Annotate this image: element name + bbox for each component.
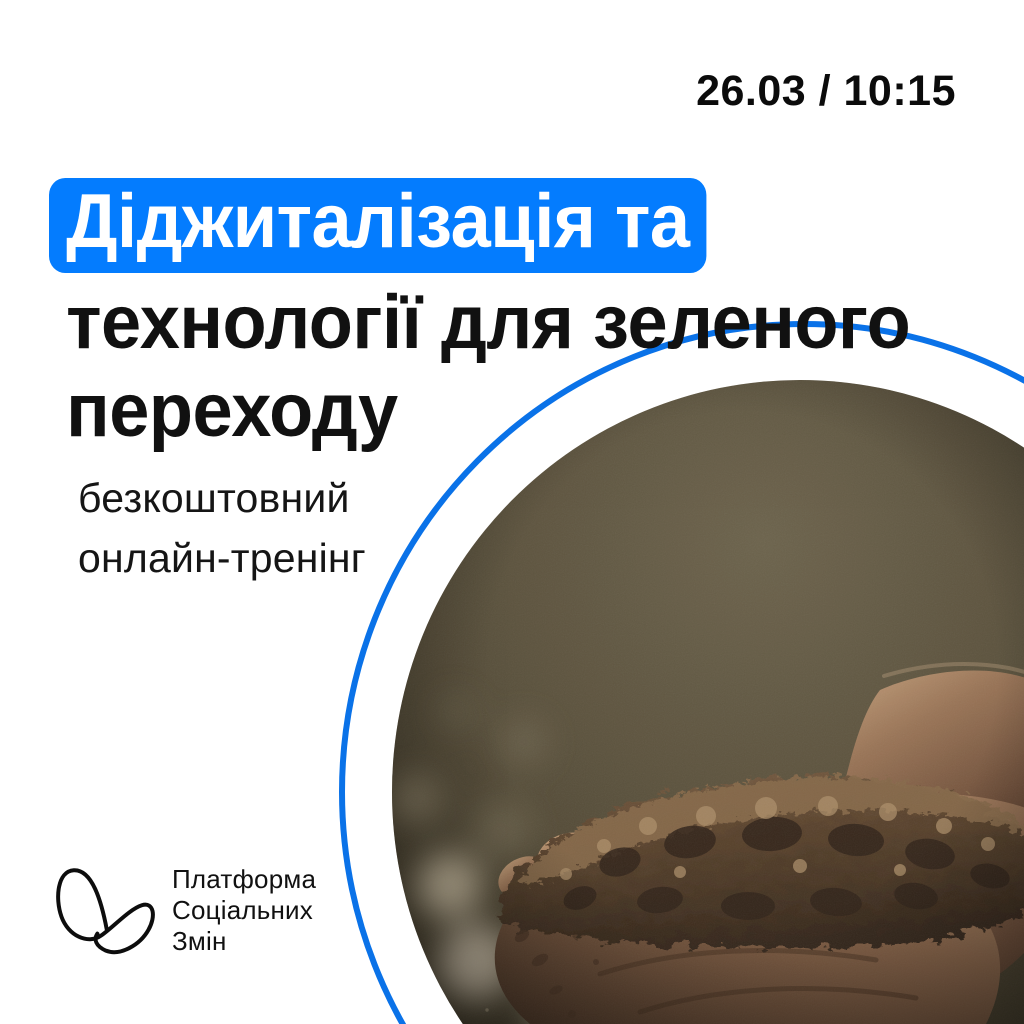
subtitle-line-1: безкоштовний [78,468,558,528]
butterfly-loops-mark [52,858,156,962]
logo-text-block: Платформа Соціальних Змін [172,864,316,957]
headline-line-1-highlighted: Діджиталізація та [49,178,707,273]
headline-line-3: переходу [49,369,883,453]
hand-highlights [556,664,1024,922]
right-palm [756,793,1024,1024]
dust-specks [485,857,702,1013]
logo-text-line-3: Змін [172,926,316,957]
logo-text-line-1: Платформа [172,864,316,895]
soil-crumbs-lit [560,796,995,880]
headline-row-1: Діджиталізація та [67,178,927,273]
logo-text-line-2: Соціальних [172,895,316,926]
headline-block: Діджиталізація та технології для зеленог… [67,178,927,453]
subtitle-line-2: онлайн-тренінг [78,528,558,588]
subtitle-block: безкоштовний онлайн-тренінг [78,468,558,588]
soil-mound [496,777,1024,1018]
falling-soil [513,927,599,1018]
event-datetime: 26.03 / 10:15 [696,70,956,113]
left-hand-cup [495,834,1000,1024]
hand-creases [560,814,992,1012]
bokeh-lights [389,692,686,1024]
right-hand [838,671,1024,855]
left-hand-fingers [491,814,703,906]
soil-clods [560,815,1012,920]
poster-canvas: 26.03 / 10:15 Діджиталізація та технолог… [0,0,1024,1024]
headline-line-2: технології для зеленого [49,281,883,365]
organization-logo: Платформа Соціальних Змін [52,858,316,962]
